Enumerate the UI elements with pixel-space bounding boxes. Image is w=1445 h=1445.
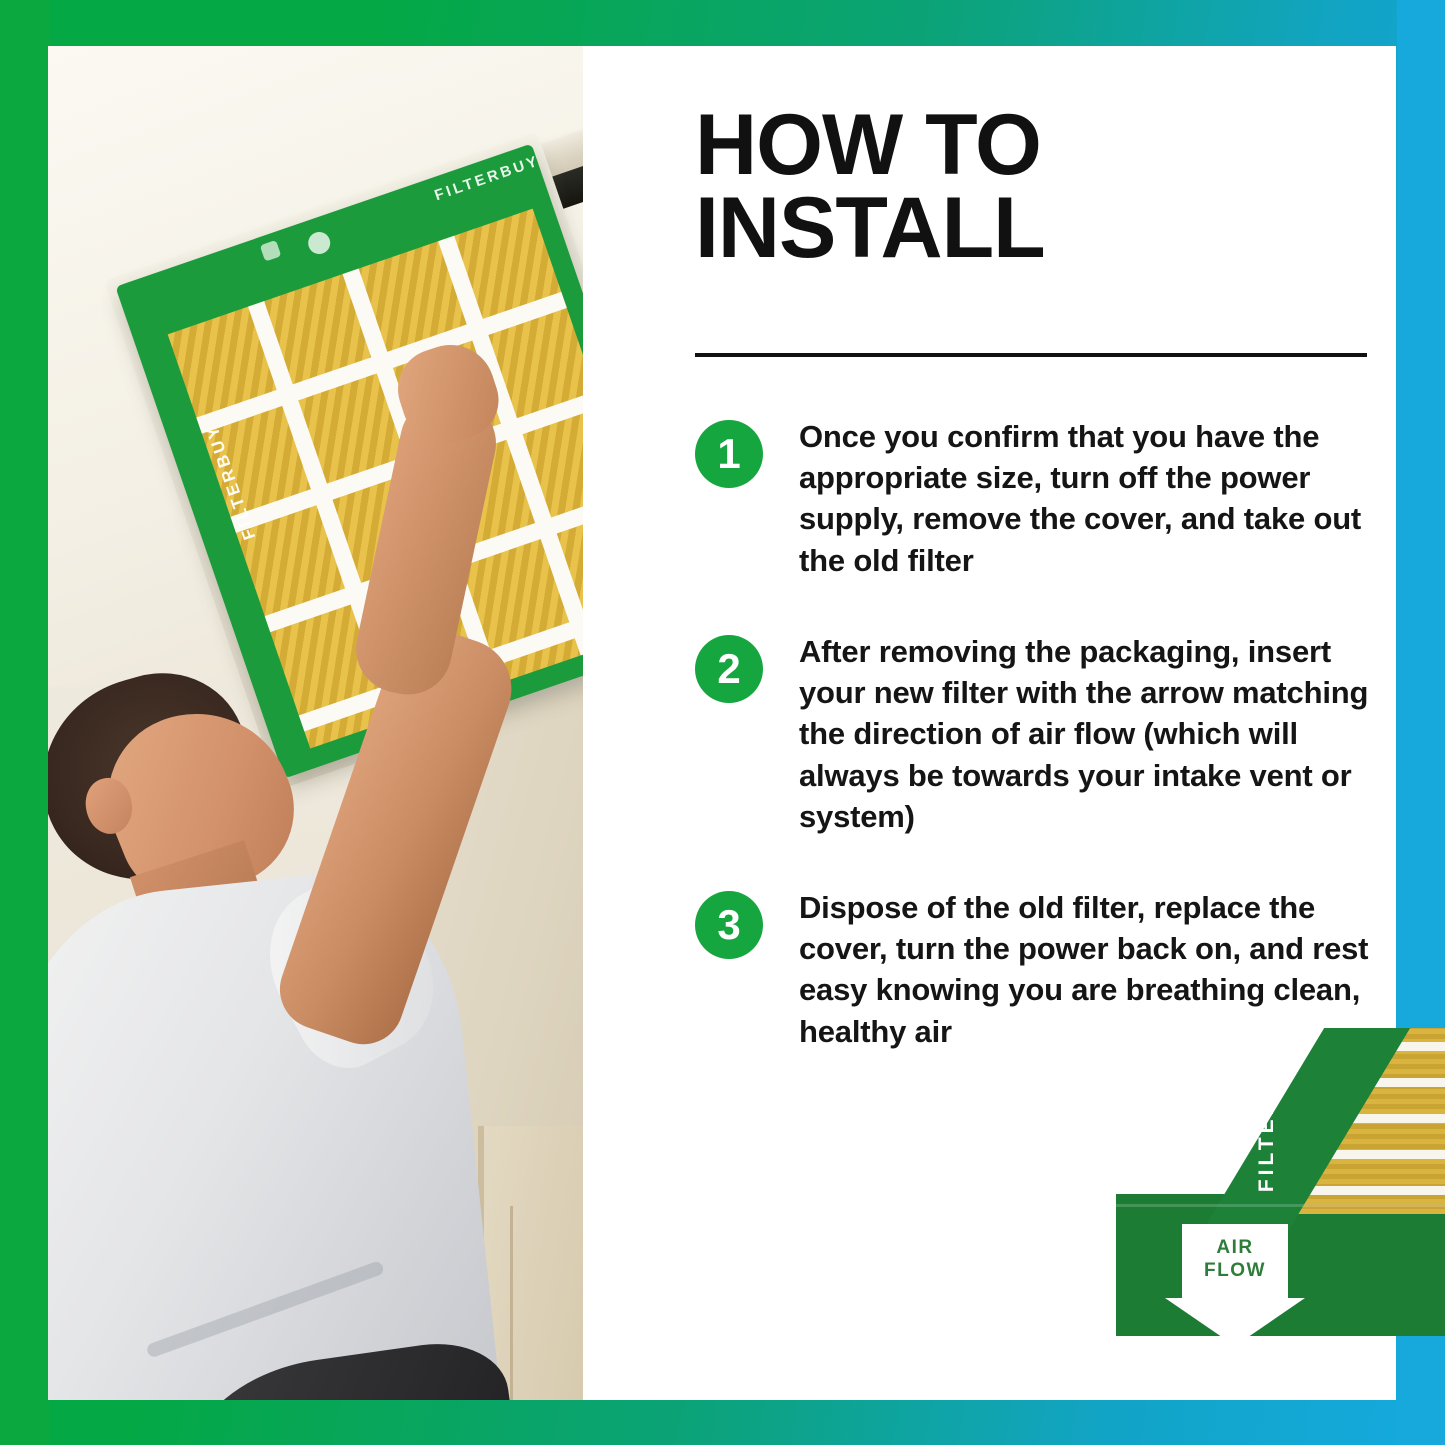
shirt-fold [145, 1260, 385, 1359]
filter-label-badge [260, 240, 282, 262]
step-description: After removing the packaging, insert you… [799, 631, 1385, 837]
step-number-badge: 1 [695, 420, 763, 488]
air-flow-line-1: AIR [1182, 1236, 1288, 1259]
left-green-rail [0, 0, 50, 1445]
step-number-badge: 2 [695, 635, 763, 703]
air-flow-line-2: FLOW [1182, 1259, 1288, 1282]
product-filter-image: FILTERBUY AIR FLOW [1104, 1028, 1445, 1366]
air-flow-label: AIR FLOW [1182, 1236, 1288, 1282]
filter-seal-badge [305, 229, 333, 257]
title-line-2: INSTALL [695, 187, 1355, 270]
installation-photo: FILTERBUY FILTERBUY [48, 46, 583, 1400]
poster-frame: FILTERBUY FILTERBUY [0, 0, 1445, 1445]
product-brand-label: FILTERBUY [1255, 1028, 1279, 1221]
steps-list: 1 Once you confirm that you have the app… [695, 416, 1385, 1102]
title-divider [695, 353, 1367, 357]
step-item: 2 After removing the packaging, insert y… [695, 631, 1385, 837]
person-installing [48, 666, 468, 1400]
air-flow-arrow-icon: AIR FLOW [1182, 1224, 1288, 1342]
step-number-badge: 3 [695, 891, 763, 959]
step-item: 1 Once you confirm that you have the app… [695, 416, 1385, 581]
title-line-1: HOW TO [695, 104, 1355, 187]
door-edge-line [510, 1206, 513, 1400]
product-frame-seam [1116, 1204, 1445, 1207]
arrow-head [1165, 1298, 1305, 1346]
page-title: HOW TO INSTALL [695, 104, 1355, 269]
step-description: Once you confirm that you have the appro… [799, 416, 1385, 581]
